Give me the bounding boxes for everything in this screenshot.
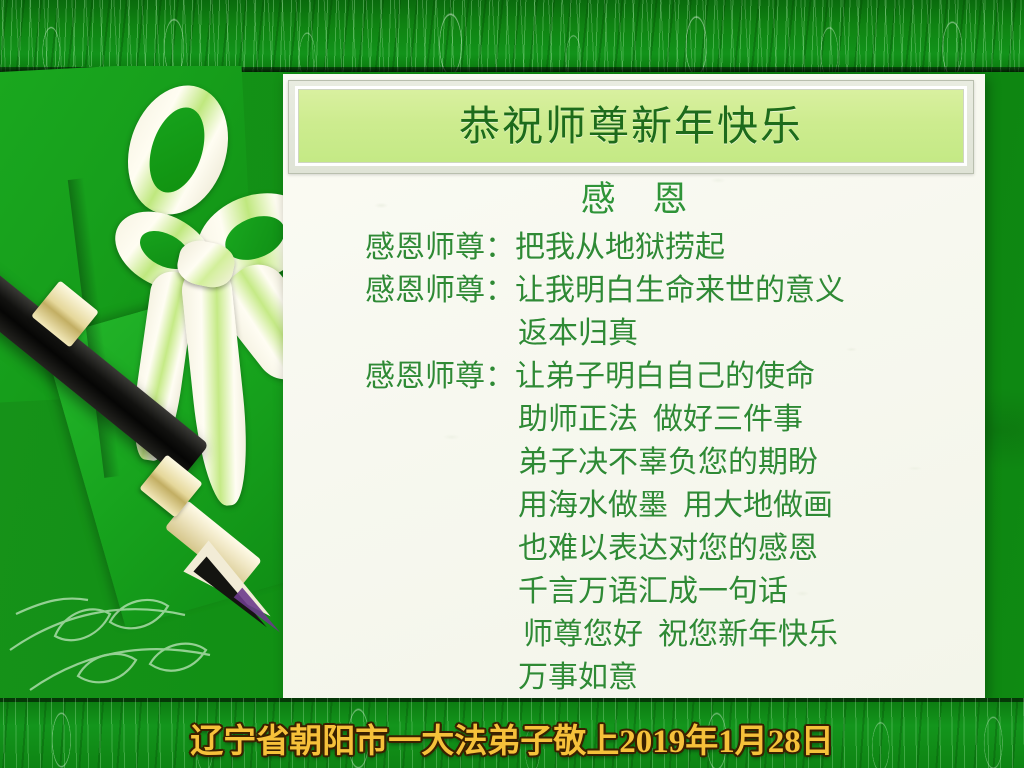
poem-heading: 感 恩 xyxy=(283,178,985,222)
poem-line: 千言万语汇成一句话 xyxy=(283,570,985,613)
poem-line: 助师正法 做好三件事 xyxy=(283,398,985,441)
poem-line: 感恩师尊：让弟子明白自己的使命 xyxy=(283,355,985,398)
grass-band-top xyxy=(0,0,1024,72)
footer-signature: 辽宁省朝阳市一大法弟子敬上2019年1月28日 xyxy=(0,724,1024,760)
title-plaque: 恭祝师尊新年快乐 xyxy=(288,80,974,174)
poem-line: 弟子决不辜负您的期盼 xyxy=(283,441,985,484)
grass-arcs-icon xyxy=(0,0,1024,72)
content-card: 恭祝师尊新年快乐 感 恩 感恩师尊：把我从地狱捞起感恩师尊：让我明白生命来世的意… xyxy=(283,74,985,700)
poem-line-list: 感恩师尊：把我从地狱捞起感恩师尊：让我明白生命来世的意义返本归真感恩师尊：让弟子… xyxy=(283,226,985,699)
greeting-slide: 恭祝师尊新年快乐 感 恩 感恩师尊：把我从地狱捞起感恩师尊：让我明白生命来世的意… xyxy=(0,0,1024,768)
title-plaque-inner: 恭祝师尊新年快乐 xyxy=(295,86,967,166)
page-title: 恭祝师尊新年快乐 xyxy=(459,106,803,147)
poem-line: 感恩师尊：让我明白生命来世的意义 xyxy=(283,269,985,312)
poem-line: 用海水做墨 用大地做画 xyxy=(283,484,985,527)
poem-line: 师尊您好 祝您新年快乐 xyxy=(283,613,985,656)
poem-line: 万事如意 xyxy=(283,656,985,699)
poem-line: 感恩师尊：把我从地狱捞起 xyxy=(283,226,985,269)
decorative-photo xyxy=(0,66,300,700)
grass-band-bottom: 辽宁省朝阳市一大法弟子敬上2019年1月28日 xyxy=(0,698,1024,768)
poem-line: 也难以表达对您的感恩 xyxy=(283,527,985,570)
poem-body: 感 恩 感恩师尊：把我从地狱捞起感恩师尊：让我明白生命来世的意义返本归真感恩师尊… xyxy=(283,178,985,699)
poem-line: 返本归真 xyxy=(283,312,985,355)
